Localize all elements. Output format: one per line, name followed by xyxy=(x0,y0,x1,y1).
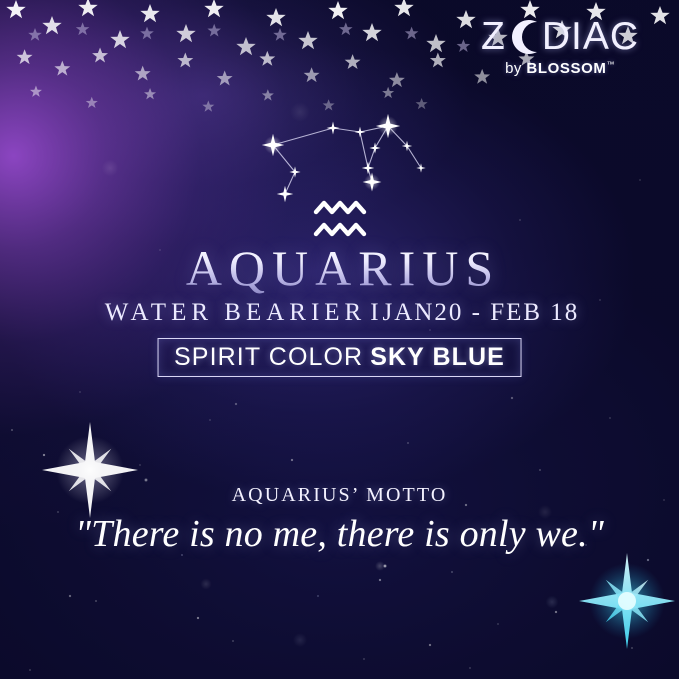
zodiac-card: Z DIAC by BLOSSOM™ AQUARIUS WATER BEARIE… xyxy=(0,0,679,679)
sign-date-range: JAN20 - FEB 18 xyxy=(383,299,580,326)
page-title: AQUARIUS xyxy=(0,242,679,294)
trademark-mark: ™ xyxy=(606,60,614,69)
spirit-color-value: SKY BLUE xyxy=(370,343,505,371)
logo-letters-diac: DIAC xyxy=(542,17,639,56)
logo-tagline-brand: BLOSSOM xyxy=(526,60,606,77)
sign-nickname: WATER BEARIER xyxy=(105,299,367,326)
motto-quote: "There is no me, there is only we." xyxy=(0,512,679,556)
motto-block: AQUARIUS’ MOTTO "There is no me, there i… xyxy=(0,484,679,556)
aquarius-water-waves-icon xyxy=(311,198,369,242)
spirit-color-label: SPIRIT COLOR xyxy=(174,343,363,371)
sign-subtitle-separator: I xyxy=(366,299,382,326)
logo-tagline-prefix: by xyxy=(505,60,522,77)
crescent-moon-icon xyxy=(507,18,541,56)
cyan-sparkle-star-icon xyxy=(574,548,679,654)
spirit-color-badge: SPIRIT COLORSKY BLUE xyxy=(157,338,522,377)
logo-tagline: by BLOSSOM™ xyxy=(465,60,655,77)
brand-logo[interactable]: Z DIAC by BLOSSOM™ xyxy=(465,14,655,77)
logo-wordmark: Z DIAC xyxy=(465,14,655,58)
logo-letter-z: Z xyxy=(481,17,506,56)
spirit-color-text: SPIRIT COLORSKY BLUE xyxy=(174,344,505,370)
sign-subtitle: WATER BEARIERIJAN20 - FEB 18 xyxy=(0,299,679,327)
aquarius-constellation-icon xyxy=(255,110,455,220)
motto-label: AQUARIUS’ MOTTO xyxy=(0,484,679,507)
headline-block: AQUARIUS WATER BEARIERIJAN20 - FEB 18 xyxy=(0,242,679,327)
